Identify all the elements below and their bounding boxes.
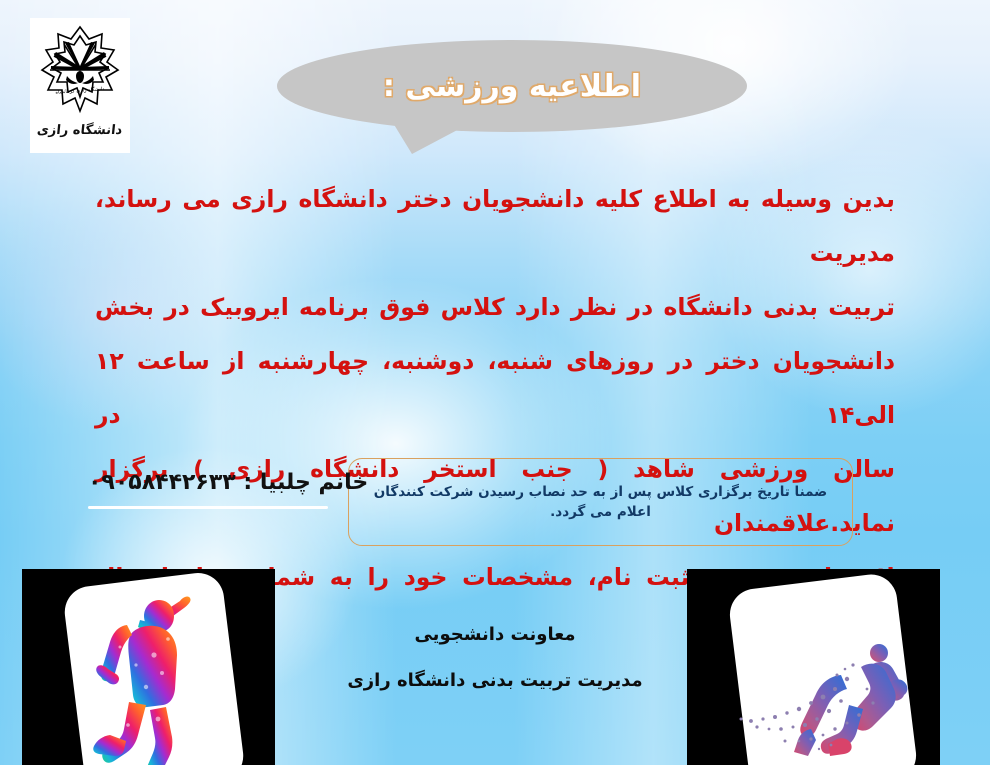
contact-underline <box>88 506 328 509</box>
announcement-poster: دانشگاه رازی کرمانشاه دانشگاه رازی اطلاع… <box>0 0 990 765</box>
note-box: ضمنا تاریخ برگزاری کلاس پس از به حد نصاب… <box>348 458 853 546</box>
jumping-athlete-photo <box>22 569 275 765</box>
body-line-2: تربیت بدنی دانشگاه در نظر دارد کلاس فوق … <box>95 280 895 334</box>
razi-university-logo: دانشگاه رازی کرمانشاه دانشگاه رازی <box>30 18 130 153</box>
body-line-3: دانشجویان دختر در روزهای شنبه، دوشنبه، چ… <box>95 334 895 442</box>
title-bubble-body: اطلاعیه ورزشی : <box>277 40 747 132</box>
contact-info: خانم چلبیا : ۰۹۰۵۸۴۴۲۶۳۳ <box>88 470 368 495</box>
logo-rosette-icon: دانشگاه رازی کرمانشاه <box>34 22 126 122</box>
running-athlete-photo <box>687 569 940 765</box>
running-athlete-figure-icon <box>687 569 940 765</box>
logo-caption: دانشگاه رازی <box>37 123 124 138</box>
note-text: ضمنا تاریخ برگزاری کلاس پس از به حد نصاب… <box>363 482 838 522</box>
jumping-athlete-figure-icon <box>22 569 275 765</box>
body-line-1: بدین وسیله به اطلاع کلیه دانشجویان دختر … <box>95 172 895 280</box>
page-title: اطلاعیه ورزشی : <box>383 69 641 104</box>
title-bubble-tail <box>390 118 480 154</box>
title-bubble: اطلاعیه ورزشی : <box>277 40 747 155</box>
